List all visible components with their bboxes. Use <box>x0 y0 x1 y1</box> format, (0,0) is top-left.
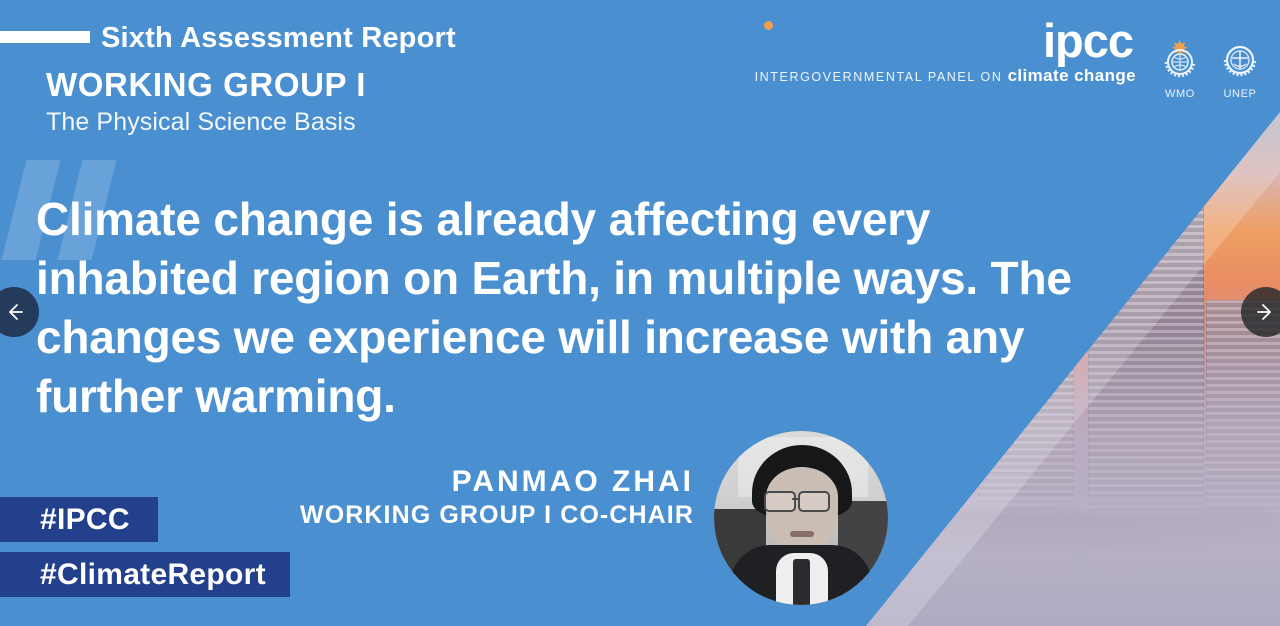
speaker-name: PANMAO ZHAI <box>300 464 694 500</box>
arrow-right-icon <box>1255 301 1277 323</box>
ipcc-tagline: INTERGOVERNMENTAL PANEL ON climate chang… <box>755 66 1136 86</box>
attribution: PANMAO ZHAI WORKING GROUP I CO-CHAIR <box>300 464 694 531</box>
avatar <box>714 431 888 605</box>
ipcc-wordmark-block: ipcc INTERGOVERNMENTAL PANEL ON climate … <box>755 18 1146 86</box>
unep-emblem-icon <box>1218 38 1262 82</box>
unep-label: UNEP <box>1214 88 1266 100</box>
hashtag-ipcc-label: #IPCC <box>40 503 130 537</box>
carousel-prev-button[interactable] <box>0 287 39 337</box>
white-rule-icon <box>0 31 90 43</box>
ipcc-wordmark-text: ipcc <box>1043 14 1133 67</box>
hashtag-climatereport-label: #ClimateReport <box>40 558 266 592</box>
ipcc-logo-lockup: ipcc INTERGOVERNMENTAL PANEL ON climate … <box>755 18 1266 100</box>
working-group-title: WORKING GROUP I <box>46 66 366 104</box>
wmo-emblem-icon <box>1158 38 1202 82</box>
tower-tall-cap <box>1118 140 1178 178</box>
ipcc-tagline-brand: climate change <box>1008 66 1136 85</box>
unep-logo: UNEP <box>1214 18 1266 100</box>
orange-dot-icon <box>764 21 773 30</box>
wmo-label: WMO <box>1154 88 1206 100</box>
wmo-logo: WMO <box>1154 18 1206 100</box>
quote-text: Climate change is already affecting ever… <box>36 190 1076 426</box>
ipcc-quote-banner: Sixth Assessment Report WORKING GROUP I … <box>0 0 1280 626</box>
ipcc-wordmark: ipcc <box>755 18 1136 64</box>
speaker-role: WORKING GROUP I CO-CHAIR <box>300 500 694 531</box>
ipcc-tagline-prefix: INTERGOVERNMENTAL PANEL ON <box>755 70 1003 84</box>
working-group-subtitle: The Physical Science Basis <box>46 108 356 137</box>
hashtag-ipcc[interactable]: #IPCC <box>0 497 158 542</box>
hashtag-climatereport[interactable]: #ClimateReport <box>0 552 290 597</box>
arrow-left-icon <box>3 301 25 323</box>
report-line: Sixth Assessment Report <box>101 22 456 55</box>
